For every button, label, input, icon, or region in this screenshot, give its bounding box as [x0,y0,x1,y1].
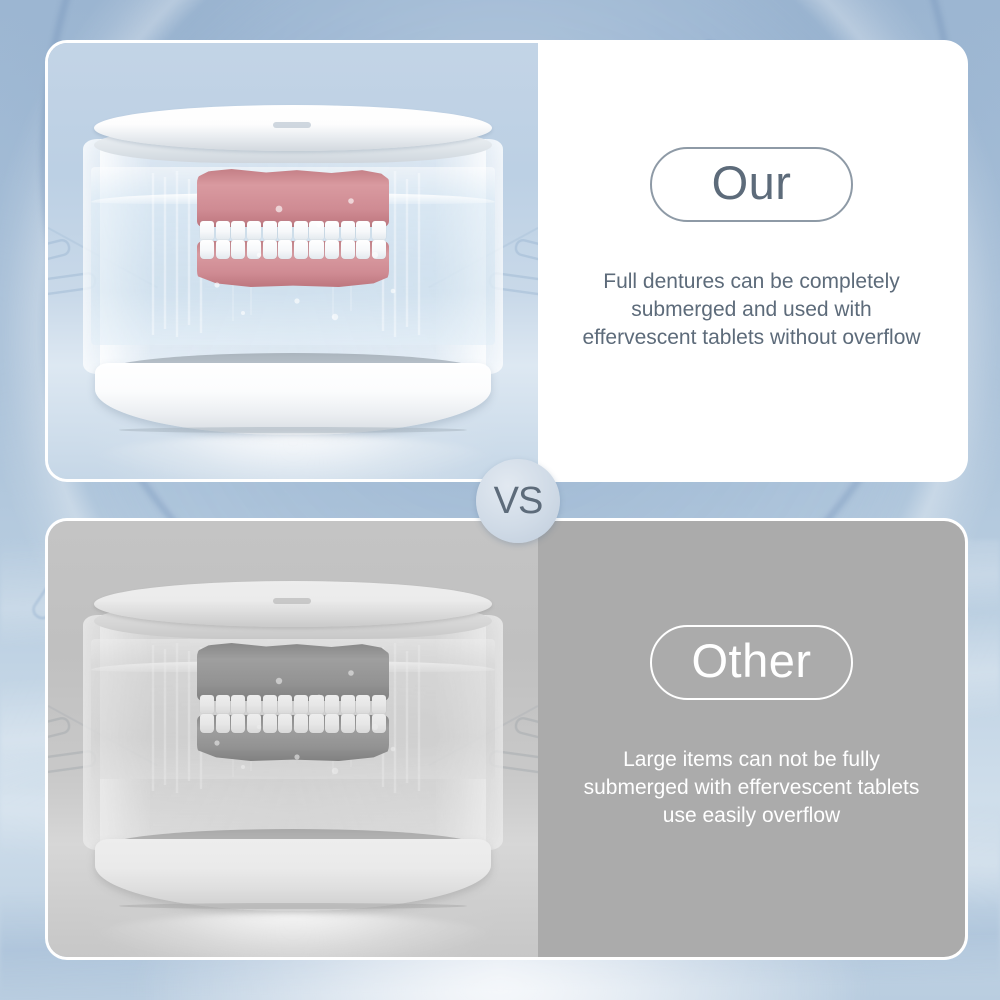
device-reflection [93,913,493,960]
water-bubbles [83,105,503,435]
description-our: Full dentures can be completely submerge… [582,268,922,352]
text-card-other: Other Large items can not be fully subme… [538,518,968,960]
water-bubbles [83,581,503,911]
comparison-row-other: Other Large items can not be fully subme… [45,518,968,960]
vs-badge: VS [476,459,560,543]
text-card-our: Our Full dentures can be completely subm… [538,40,968,482]
comparison-row-our: Our Full dentures can be completely subm… [45,40,968,482]
comparison-infographic: Our Full dentures can be completely subm… [0,0,1000,1000]
denture-cleaner-device [83,105,503,435]
denture-cleaner-device [83,581,503,911]
device-reflection [93,435,493,482]
description-other: Large items can not be fully submerged w… [582,746,922,830]
product-photo-our [45,40,538,482]
product-photo-other [45,518,538,960]
badge-other: Other [650,625,853,700]
badge-our: Our [650,147,853,222]
